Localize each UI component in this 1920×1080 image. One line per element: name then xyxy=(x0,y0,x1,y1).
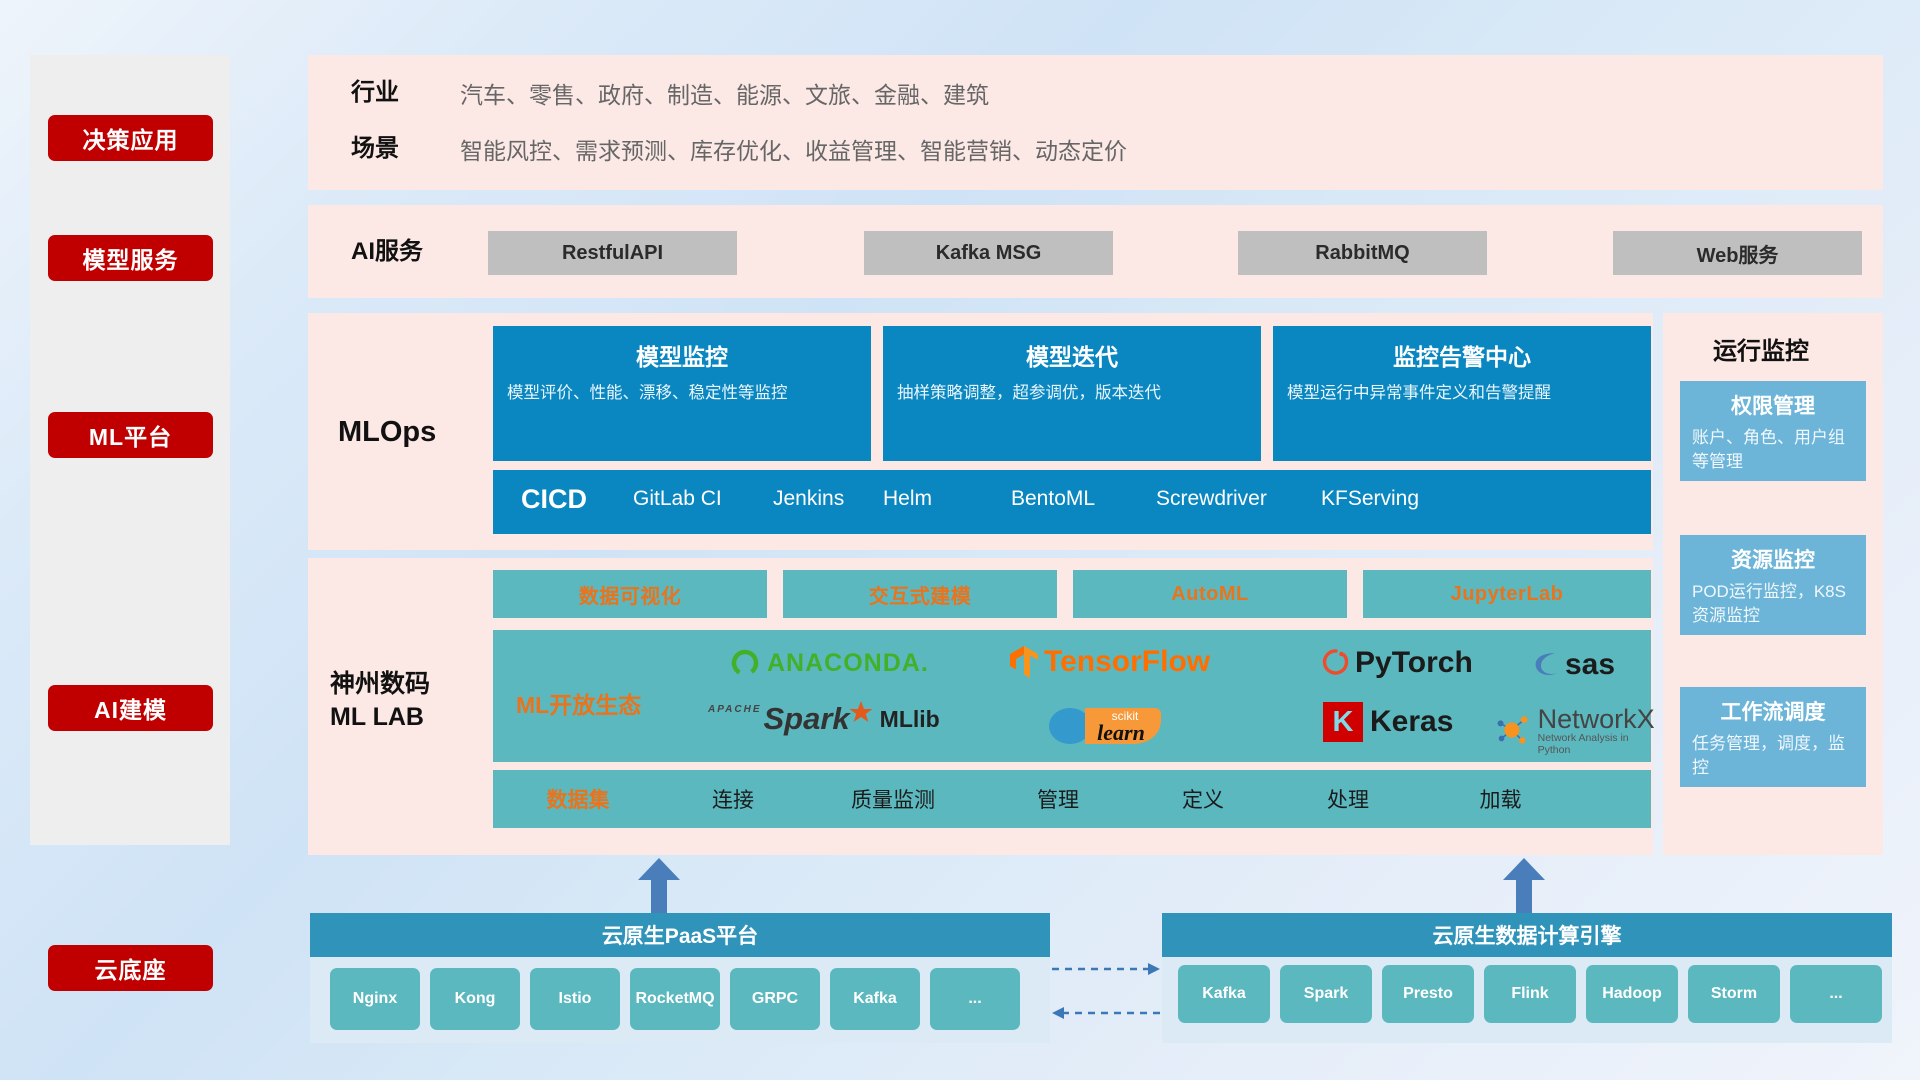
anaconda-logo: ANACONDA. xyxy=(728,646,929,680)
keras-logo-text: Keras xyxy=(1370,705,1453,739)
tool-chip-data-visualization[interactable]: 数据可视化 xyxy=(493,570,767,618)
stage-chip-cloud-base[interactable]: 云底座 xyxy=(48,945,213,991)
cloud-chip-spark[interactable]: Spark xyxy=(1280,965,1372,1023)
card-desc: 模型运行中异常事件定义和告警提醒 xyxy=(1287,382,1637,406)
cloud-chip-more[interactable]: ... xyxy=(930,968,1020,1030)
industry-value: 汽车、零售、政府、制造、能源、文旅、金融、建筑 xyxy=(460,81,989,111)
mlops-band: MLOps 模型监控 模型评价、性能、漂移、稳定性等监控 模型迭代 抽样策略调整… xyxy=(308,313,1653,550)
tensorflow-logo-text: TensorFlow xyxy=(1044,645,1210,679)
dataset-bar: 数据集 连接 质量监测 管理 定义 处理 加载 xyxy=(493,770,1651,828)
service-chip-kafka-msg[interactable]: Kafka MSG xyxy=(864,231,1113,275)
application-band: 行业 汽车、零售、政府、制造、能源、文旅、金融、建筑 场景 智能风控、需求预测、… xyxy=(308,55,1883,190)
scikit-learn-logo: scikit learn xyxy=(1043,700,1173,748)
cloud-chip-hadoop[interactable]: Hadoop xyxy=(1586,965,1678,1023)
card-title: 资源监控 xyxy=(1692,544,1854,574)
mlops-card-model-iteration[interactable]: 模型迭代 抽样策略调整，超参调优，版本迭代 xyxy=(883,326,1261,461)
cloud-chip-storm[interactable]: Storm xyxy=(1688,965,1780,1023)
cloud-chip-flink[interactable]: Flink xyxy=(1484,965,1576,1023)
card-desc: 抽样策略调整，超参调优，版本迭代 xyxy=(897,382,1247,406)
card-desc: POD运行监控，K8S资源监控 xyxy=(1692,580,1854,628)
learn-text: learn xyxy=(1097,720,1145,745)
cloud-chip-kong[interactable]: Kong xyxy=(430,968,520,1030)
stage-chip-ml-platform[interactable]: ML平台 xyxy=(48,412,213,458)
tool-chip-interactive-modeling[interactable]: 交互式建模 xyxy=(783,570,1057,618)
spark-mllib-logo: APACHE Spark MLlib xyxy=(708,701,940,737)
dataset-item-define[interactable]: 定义 xyxy=(1133,784,1273,814)
pytorch-logo: PyTorch xyxy=(1321,646,1473,680)
sas-mark-icon xyxy=(1530,650,1564,680)
stage-chip-model-service[interactable]: 模型服务 xyxy=(48,235,213,281)
mlops-label: MLOps xyxy=(338,413,436,451)
networkx-mark-icon xyxy=(1493,711,1533,749)
mllab-label: 神州数码 ML LAB xyxy=(330,668,430,734)
keras-mark-letter: K xyxy=(1333,706,1354,739)
ai-service-label: AI服务 xyxy=(351,236,423,268)
paas-group-title: 云原生PaaS平台 xyxy=(310,913,1050,957)
stage-chip-ai-modeling[interactable]: AI建模 xyxy=(48,685,213,731)
spark-star-icon xyxy=(848,700,874,726)
ai-service-band: AI服务 RestfulAPI Kafka MSG RabbitMQ Web服务 xyxy=(308,205,1883,298)
monitor-card-permission[interactable]: 权限管理 账户、角色、用户组等管理 xyxy=(1680,381,1866,481)
monitor-card-resource[interactable]: 资源监控 POD运行监控，K8S资源监控 xyxy=(1680,535,1866,635)
architecture-diagram: 决策应用 模型服务 ML平台 AI建模 云底座 行业 汽车、零售、政府、制造、能… xyxy=(0,0,1920,1080)
industry-label: 行业 xyxy=(351,77,399,109)
cloud-chip-rocketmq[interactable]: RocketMQ xyxy=(630,968,720,1030)
card-title: 模型监控 xyxy=(507,338,857,372)
dataset-item-process[interactable]: 处理 xyxy=(1273,784,1423,814)
tool-chip-jupyterlab[interactable]: JupyterLab xyxy=(1363,570,1651,618)
networkx-logo-text: NetworkX xyxy=(1538,704,1657,735)
cloud-chip-grpc[interactable]: GRPC xyxy=(730,968,820,1030)
tensorflow-mark-icon xyxy=(1008,644,1040,680)
spark-logo-text: Spark xyxy=(763,701,849,737)
cloud-group-connectors xyxy=(1048,955,1168,1035)
dataset-item-load[interactable]: 加载 xyxy=(1423,784,1578,814)
monitor-card-workflow[interactable]: 工作流调度 任务管理，调度，监控 xyxy=(1680,687,1866,787)
pytorch-mark-icon xyxy=(1321,647,1351,679)
service-chip-rabbitmq[interactable]: RabbitMQ xyxy=(1238,231,1487,275)
open-ecosystem-label: ML开放生态 xyxy=(516,686,641,720)
tensorflow-logo: TensorFlow xyxy=(1008,644,1210,680)
cicd-title: CICD xyxy=(493,470,633,515)
dataset-item-quality[interactable]: 质量监测 xyxy=(803,784,983,814)
cicd-item-bentoml[interactable]: BentoML xyxy=(1011,470,1156,511)
pytorch-logo-text: PyTorch xyxy=(1355,646,1473,680)
keras-logo: K Keras xyxy=(1323,702,1453,742)
card-title: 权限管理 xyxy=(1692,390,1854,420)
mlops-card-model-monitor[interactable]: 模型监控 模型评价、性能、漂移、稳定性等监控 xyxy=(493,326,871,461)
cicd-item-gitlab-ci[interactable]: GitLab CI xyxy=(633,470,773,511)
dataset-item-manage[interactable]: 管理 xyxy=(983,784,1133,814)
cicd-item-jenkins[interactable]: Jenkins xyxy=(773,470,883,511)
dataset-item-connect[interactable]: 连接 xyxy=(663,784,803,814)
cloud-chip-istio[interactable]: Istio xyxy=(530,968,620,1030)
card-desc: 模型评价、性能、漂移、稳定性等监控 xyxy=(507,382,857,406)
data-engine-group-title: 云原生数据计算引擎 xyxy=(1162,913,1892,957)
cloud-chip-kafka-2[interactable]: Kafka xyxy=(1178,965,1270,1023)
sas-logo: sas xyxy=(1530,648,1615,682)
cloud-chip-nginx[interactable]: Nginx xyxy=(330,968,420,1030)
arrow-up-data-engine-icon xyxy=(1501,858,1547,914)
card-desc: 任务管理，调度，监控 xyxy=(1692,732,1854,780)
keras-mark-icon: K xyxy=(1323,702,1363,742)
scenario-label: 场景 xyxy=(351,133,399,165)
mllab-band: 神州数码 ML LAB 数据可视化 交互式建模 AutoML JupyterLa… xyxy=(308,558,1653,855)
cloud-chip-kafka[interactable]: Kafka xyxy=(830,968,920,1030)
scenario-value: 智能风控、需求预测、库存优化、收益管理、智能营销、动态定价 xyxy=(460,137,1127,167)
service-chip-web-service[interactable]: Web服务 xyxy=(1613,231,1862,275)
anaconda-mark-icon xyxy=(728,646,762,680)
arrow-up-paas-icon xyxy=(636,858,682,914)
mlops-card-alert-center[interactable]: 监控告警中心 模型运行中异常事件定义和告警提醒 xyxy=(1273,326,1651,461)
card-title: 监控告警中心 xyxy=(1287,338,1637,372)
cicd-item-screwdriver[interactable]: Screwdriver xyxy=(1156,470,1321,511)
scikit-learn-mark-icon: scikit learn xyxy=(1043,700,1173,748)
dataset-label: 数据集 xyxy=(493,784,663,814)
cloud-chip-presto[interactable]: Presto xyxy=(1382,965,1474,1023)
networkx-tagline: Network Analysis in Python xyxy=(1538,732,1657,756)
cicd-bar: CICD GitLab CI Jenkins Helm BentoML Scre… xyxy=(493,470,1651,534)
cicd-item-kfserving[interactable]: KFServing xyxy=(1321,470,1471,511)
runtime-monitor-title: 运行监控 xyxy=(1713,331,1809,366)
spark-apache-text: APACHE xyxy=(708,704,761,715)
networkx-logo: NetworkX Network Analysis in Python xyxy=(1493,704,1657,756)
cicd-item-helm[interactable]: Helm xyxy=(883,470,1011,511)
sas-logo-text: sas xyxy=(1565,648,1615,682)
card-desc: 账户、角色、用户组等管理 xyxy=(1692,426,1854,474)
stage-chip-decision[interactable]: 决策应用 xyxy=(48,115,213,161)
card-title: 模型迭代 xyxy=(897,338,1247,372)
mllib-logo-text: MLlib xyxy=(880,706,940,733)
service-chip-restfulapi[interactable]: RestfulAPI xyxy=(488,231,737,275)
runtime-monitor-panel: 运行监控 权限管理 账户、角色、用户组等管理 资源监控 POD运行监控，K8S资… xyxy=(1663,313,1883,855)
card-title: 工作流调度 xyxy=(1692,696,1854,726)
tool-chip-automl[interactable]: AutoML xyxy=(1073,570,1347,618)
cloud-chip-more-2[interactable]: ... xyxy=(1790,965,1882,1023)
anaconda-logo-text: ANACONDA. xyxy=(767,649,929,678)
